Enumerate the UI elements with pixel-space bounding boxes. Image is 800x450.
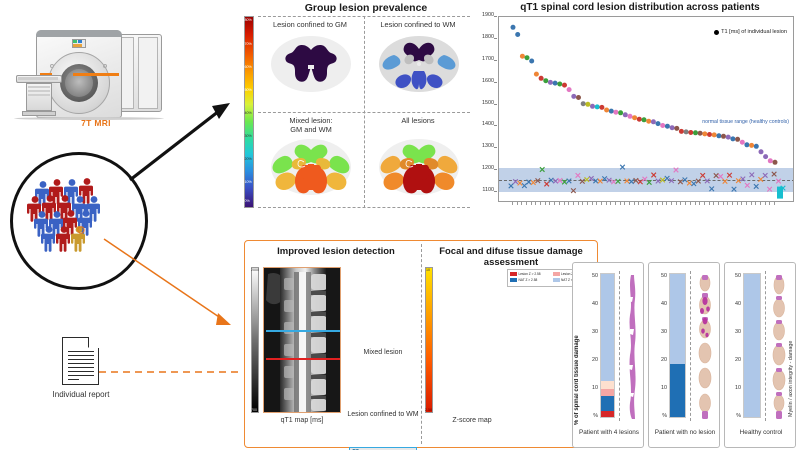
bar-segment xyxy=(744,274,760,417)
control-point xyxy=(736,178,741,183)
control-point xyxy=(571,188,576,193)
x-tick-mark xyxy=(718,202,719,205)
x-tick-mark xyxy=(568,202,569,205)
x-tick-mark xyxy=(535,202,536,205)
scatter-title: qT1 spinal cord lesion distribution acro… xyxy=(482,2,798,13)
bar-segment xyxy=(601,274,614,381)
scatter-point xyxy=(768,158,773,163)
control-point xyxy=(727,173,732,178)
control-point xyxy=(718,174,723,179)
bar-caption-1: Patient with 4 lesions xyxy=(573,429,645,436)
x-tick-mark xyxy=(676,202,677,205)
scatter-point xyxy=(529,59,534,64)
control-point xyxy=(638,180,643,185)
sagittal-qt1-map xyxy=(263,267,341,413)
x-tick-mark xyxy=(723,202,724,205)
bar-y-tick: % xyxy=(729,413,741,419)
control-point xyxy=(585,177,590,182)
x-tick-mark xyxy=(578,202,579,205)
control-point xyxy=(549,178,554,183)
control-point xyxy=(589,176,594,181)
bar-yticks-1: 5040302010% xyxy=(586,271,598,421)
y-tick: 1700 xyxy=(472,56,494,62)
arrow-to-individual-icon xyxy=(100,235,240,345)
x-tick-mark xyxy=(671,202,672,205)
x-tick-mark xyxy=(648,202,649,205)
scatter-point xyxy=(581,101,586,106)
x-tick-mark xyxy=(629,202,630,205)
bar-y-tick: 30 xyxy=(729,329,741,335)
scatter-point xyxy=(670,125,675,130)
y-tick: 1500 xyxy=(472,100,494,106)
scatter-point xyxy=(511,25,516,30)
scatter-point xyxy=(674,126,679,131)
qt1-colorbar: 2000 700 xyxy=(251,267,259,413)
y-tick-mark xyxy=(494,38,497,39)
highlighted-patient-marker xyxy=(777,187,783,199)
x-tick-mark xyxy=(713,202,714,205)
cord-map-wm xyxy=(378,33,460,95)
bar-y-tick: 50 xyxy=(586,273,598,279)
x-tick-mark xyxy=(755,202,756,205)
control-point xyxy=(758,177,763,182)
myelin-axis-label: Myelin / axon integrity - damage xyxy=(788,277,794,417)
y-tick: 1300 xyxy=(472,143,494,149)
cord-map-mixed xyxy=(270,136,352,198)
scanner-label: 7T MRI xyxy=(66,118,126,128)
y-tick: 1400 xyxy=(472,121,494,127)
scatter-point xyxy=(553,81,558,86)
x-tick-mark xyxy=(526,202,527,205)
quadrant-label-mixed: Mixed lesion:GM and WM xyxy=(260,116,362,134)
qt1-colorbar-bottom: 700 xyxy=(251,408,257,412)
qt1-colorbar-top: 2000 xyxy=(251,268,259,272)
control-point xyxy=(536,178,541,183)
x-tick-mark xyxy=(751,202,752,205)
y-tick: 1900 xyxy=(472,12,494,18)
x-tick-mark xyxy=(643,202,644,205)
control-point xyxy=(567,179,572,184)
scatter-point xyxy=(543,78,548,83)
bar-y-tick: 30 xyxy=(586,329,598,335)
scatter-point xyxy=(744,142,749,147)
scatter-point xyxy=(642,117,647,122)
legend-label-lesion-high: Lesion Z > 2.58 xyxy=(519,272,541,276)
scatter-point xyxy=(562,83,567,88)
control-point xyxy=(723,179,728,184)
axial-c3-caption: Mixed lesion xyxy=(345,349,421,356)
x-tick-mark xyxy=(540,202,541,205)
arrow-to-group-icon xyxy=(120,95,240,195)
x-tick-mark xyxy=(587,202,588,205)
control-point xyxy=(509,184,514,189)
control-point xyxy=(527,180,532,185)
cord-map-all xyxy=(378,136,460,198)
bar-y-tick: 40 xyxy=(655,301,667,307)
x-tick-mark xyxy=(709,202,710,205)
scatter-point xyxy=(660,123,665,128)
control-point xyxy=(714,173,719,178)
control-point xyxy=(772,172,777,177)
scatter-point xyxy=(656,121,661,126)
control-point xyxy=(763,173,768,178)
quadrant-label-gm: Lesion confined to GM xyxy=(260,20,360,29)
scatter-point xyxy=(688,130,693,135)
bar-y-tick: 30 xyxy=(655,329,667,335)
scatter-point xyxy=(665,124,670,129)
bar-y-tick: 20 xyxy=(729,357,741,363)
scatter-point xyxy=(693,130,698,135)
bar-y-tick: 40 xyxy=(729,301,741,307)
control-point xyxy=(611,180,616,185)
bar-caption-3: Healthy control xyxy=(725,429,797,436)
control-point xyxy=(776,179,781,184)
slice-line-c4 xyxy=(266,358,340,360)
control-point xyxy=(750,173,755,178)
scatter-point xyxy=(749,143,754,148)
scatter-point xyxy=(604,108,609,113)
cord-render-3 xyxy=(768,275,790,419)
scatter-point xyxy=(712,132,717,137)
x-tick-mark xyxy=(610,202,611,205)
control-point xyxy=(629,179,634,184)
control-point xyxy=(674,168,679,173)
x-tick-mark xyxy=(666,202,667,205)
scatter-point xyxy=(721,134,726,139)
y-tick: 1800 xyxy=(472,34,494,40)
sagittal-qt1-caption: qT1 map [ms] xyxy=(259,417,345,424)
bar-yticks-2: 5040302010% xyxy=(655,271,667,421)
control-point xyxy=(754,184,759,189)
control-point xyxy=(709,187,714,192)
quadrant-label-wm: Lesion confined to WM xyxy=(368,20,468,29)
bar-y-tick: 50 xyxy=(655,273,667,279)
y-tick-mark xyxy=(494,147,497,148)
y-tick: 1200 xyxy=(472,165,494,171)
control-point xyxy=(616,179,621,184)
stacked-bar-1 xyxy=(600,273,615,418)
scatter-point xyxy=(590,104,595,109)
y-tick-mark xyxy=(494,125,497,126)
scatter-point xyxy=(609,109,614,114)
legend-label-nat-high: NAT Z > 2.58 xyxy=(519,278,538,282)
zscore-colorbar-top: 10 xyxy=(426,268,430,272)
control-point xyxy=(683,178,688,183)
scatter-point xyxy=(557,82,562,87)
scatter-y-axis: 110012001300140015001600170018001900 xyxy=(472,16,496,202)
x-tick-mark xyxy=(531,202,532,205)
x-tick-mark xyxy=(695,202,696,205)
scatter-point xyxy=(613,110,618,115)
control-point xyxy=(647,180,652,185)
control-point xyxy=(696,179,701,184)
axial-c4-caption: Lesion confined to WM xyxy=(341,411,425,418)
control-point xyxy=(562,180,567,185)
control-point xyxy=(767,187,772,192)
bar-panel-patient-4-lesions: % of spinal cord tissue damage 504030201… xyxy=(572,262,644,448)
control-point xyxy=(602,176,607,181)
qt1-scatter-panel: qT1 spinal cord lesion distribution acro… xyxy=(472,2,798,224)
control-point xyxy=(518,181,523,186)
scatter-point xyxy=(525,55,530,60)
x-tick-mark xyxy=(685,202,686,205)
control-point xyxy=(620,165,625,170)
x-tick-mark xyxy=(741,202,742,205)
x-tick-mark xyxy=(559,202,560,205)
y-tick-mark xyxy=(494,191,497,192)
bar-y-tick: 10 xyxy=(655,385,667,391)
bar-y-tick: 10 xyxy=(729,385,741,391)
cord-render-1 xyxy=(622,275,642,419)
x-tick-mark xyxy=(521,202,522,205)
x-tick-mark xyxy=(690,202,691,205)
x-tick-mark xyxy=(737,202,738,205)
x-tick-mark xyxy=(765,202,766,205)
control-point xyxy=(741,177,746,182)
x-tick-mark xyxy=(517,202,518,205)
x-tick-mark xyxy=(582,202,583,205)
x-tick-mark xyxy=(512,202,513,205)
x-tick-mark xyxy=(592,202,593,205)
individual-analysis-panel: Improved lesion detection Focal and difu… xyxy=(244,240,598,448)
bar-segment xyxy=(601,381,614,389)
control-point xyxy=(656,179,661,184)
control-point xyxy=(665,176,670,181)
control-point xyxy=(580,179,585,184)
bar-segment xyxy=(670,274,685,364)
legend-swatch-lesion-high xyxy=(510,272,517,276)
legend-swatch-nat-low xyxy=(553,278,560,282)
x-tick-mark xyxy=(549,202,550,205)
x-tick-mark xyxy=(652,202,653,205)
bar-segment xyxy=(601,389,614,396)
control-point xyxy=(700,173,705,178)
scatter-point xyxy=(707,132,712,137)
x-tick-mark xyxy=(704,202,705,205)
scatter-point xyxy=(548,80,553,85)
bar-segment xyxy=(601,411,614,417)
x-tick-mark xyxy=(634,202,635,205)
x-tick-mark xyxy=(596,202,597,205)
scatter-point xyxy=(599,105,604,110)
x-tick-mark xyxy=(545,202,546,205)
scatter-point xyxy=(576,95,581,100)
bar-caption-2: Patient with no lesion xyxy=(649,429,721,436)
control-point xyxy=(705,179,710,184)
bar-y-tick: 50 xyxy=(729,273,741,279)
scatter-point xyxy=(571,94,576,99)
scatter-point xyxy=(716,133,721,138)
scatter-point xyxy=(520,54,525,59)
control-point xyxy=(513,179,518,184)
bar-y-tick: 20 xyxy=(655,357,667,363)
x-tick-mark xyxy=(774,202,775,205)
prevalence-grid: Lesion confined to GM Lesion confined to… xyxy=(258,16,470,208)
control-point xyxy=(687,181,692,186)
bar-y-tick: 20 xyxy=(586,357,598,363)
slice-line-c3 xyxy=(266,330,340,332)
quadrant-label-all: All lesions xyxy=(368,116,468,125)
control-point xyxy=(522,183,527,188)
control-point xyxy=(531,180,536,185)
prevalence-colorbar: 80% 70% 60% 50% 40% 30% 20% 10% 0% xyxy=(244,16,254,208)
scatter-point xyxy=(585,102,590,107)
prevalence-title: Group lesion prevalence xyxy=(262,2,470,14)
x-tick-mark xyxy=(554,202,555,205)
report-label: Individual report xyxy=(40,390,122,399)
scatter-point xyxy=(567,87,572,92)
bar-panel-patient-no-lesion: 5040302010% xyxy=(648,262,720,448)
control-point xyxy=(745,183,750,188)
control-point xyxy=(553,179,558,184)
scatter-point xyxy=(754,144,759,149)
scatter-point xyxy=(623,112,628,117)
bar-y-tick: 40 xyxy=(586,301,598,307)
control-point xyxy=(634,178,639,183)
control-point xyxy=(558,178,563,183)
scatter-point xyxy=(646,119,651,124)
scatter-point xyxy=(534,72,539,77)
x-tick-mark xyxy=(657,202,658,205)
cord-map-gm xyxy=(270,33,352,95)
left-column: 7T MRI xyxy=(0,0,240,450)
y-tick-mark xyxy=(494,60,497,61)
control-point xyxy=(625,179,630,184)
y-tick-mark xyxy=(494,82,497,83)
y-tick-mark xyxy=(494,104,497,105)
control-point xyxy=(643,177,648,182)
x-tick-mark xyxy=(760,202,761,205)
y-tick: 1100 xyxy=(472,187,494,193)
scatter-point xyxy=(773,160,778,165)
control-point xyxy=(678,180,683,185)
scatter-point xyxy=(726,135,731,140)
x-tick-mark xyxy=(615,202,616,205)
control-point xyxy=(576,173,581,178)
scatter-point xyxy=(651,119,656,124)
cord-render-2 xyxy=(693,275,717,419)
scatter-point xyxy=(539,76,544,81)
control-point xyxy=(598,179,603,184)
y-tick-mark xyxy=(494,16,497,17)
y-tick-mark xyxy=(494,169,497,170)
control-point xyxy=(544,182,549,187)
control-point xyxy=(593,179,598,184)
scatter-point xyxy=(684,129,689,134)
stacked-bar-3 xyxy=(743,273,761,418)
scatter-x-axis xyxy=(498,202,794,208)
bar-segment xyxy=(670,364,685,417)
scatter-point xyxy=(515,32,520,37)
x-tick-mark xyxy=(769,202,770,205)
detection-title: Improved lesion detection xyxy=(253,246,419,257)
scatter-point xyxy=(595,104,600,109)
scatter-point xyxy=(698,131,703,136)
control-point xyxy=(540,167,545,172)
x-tick-mark xyxy=(746,202,747,205)
legend-swatch-lesion-low xyxy=(553,272,560,276)
scatter-point xyxy=(702,131,707,136)
y-tick: 1600 xyxy=(472,78,494,84)
scatter-point xyxy=(763,154,768,159)
bar-yticks-3: 5040302010% xyxy=(729,271,741,421)
scatter-point xyxy=(740,140,745,145)
bar-y-tick: % xyxy=(586,413,598,419)
group-lesion-prevalence-panel: Group lesion prevalence 80% 70% 60% 50% … xyxy=(244,2,470,224)
scatter-point xyxy=(637,117,642,122)
x-tick-mark xyxy=(601,202,602,205)
bar-y-tick: 10 xyxy=(586,385,598,391)
x-tick-mark xyxy=(624,202,625,205)
scatter-point xyxy=(679,129,684,134)
zscore-colorbar-bottom: 2.58 xyxy=(425,408,432,412)
scatter-point xyxy=(730,136,735,141)
scatter-point xyxy=(735,137,740,142)
bar-ylabel: % of spinal cord tissue damage xyxy=(574,285,580,425)
zscore-colorbar: 10 2.58 xyxy=(425,267,433,413)
x-tick-mark xyxy=(727,202,728,205)
x-tick-mark xyxy=(620,202,621,205)
x-tick-mark xyxy=(680,202,681,205)
sagittal-zscore-caption: Z-score map xyxy=(433,417,511,424)
bar-segment xyxy=(601,396,614,411)
x-tick-mark xyxy=(638,202,639,205)
scatter-point xyxy=(628,114,633,119)
x-tick-mark xyxy=(699,202,700,205)
bar-y-tick: % xyxy=(655,413,667,419)
x-tick-mark xyxy=(732,202,733,205)
x-tick-mark xyxy=(573,202,574,205)
legend-swatch-nat-high xyxy=(510,278,517,282)
scatter-point xyxy=(632,115,637,120)
scatter-point xyxy=(759,149,764,154)
x-tick-mark xyxy=(662,202,663,205)
x-tick-mark xyxy=(606,202,607,205)
control-point xyxy=(669,178,674,183)
control-point xyxy=(651,173,656,178)
stacked-bar-2 xyxy=(669,273,686,418)
scatter-plot-area: normal tissue range (healthy controls) T… xyxy=(498,16,794,202)
control-point xyxy=(607,178,612,183)
x-tick-mark xyxy=(564,202,565,205)
scatter-point xyxy=(618,110,623,115)
bar-panel-healthy-control: 5040302010% Myelin / axon integ xyxy=(724,262,796,448)
control-point xyxy=(692,181,697,186)
document-icon xyxy=(62,337,99,385)
control-point xyxy=(660,178,665,183)
control-point xyxy=(732,187,737,192)
